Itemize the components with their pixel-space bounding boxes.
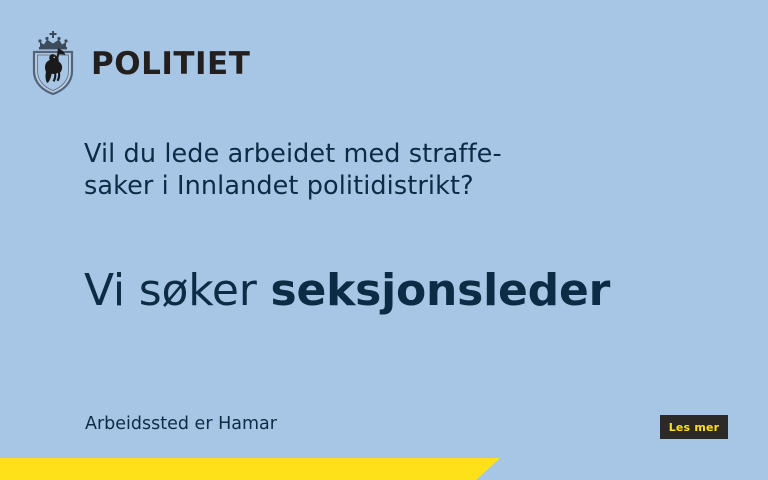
recruitment-banner: POLITIET Vil du lede arbeidet med straff… [0,0,768,480]
workplace-location: Arbeidssted er Hamar [85,413,277,435]
les-mer-button[interactable]: Les mer [660,415,728,439]
politiet-wordmark: POLITIET [91,49,250,80]
headline-strong-part: seksjonsleder [270,265,610,316]
norwegian-coat-of-arms-icon [27,31,79,95]
headline: Vi søker seksjonsleder [84,265,610,317]
les-mer-button-label: Les mer [669,422,720,433]
yellow-accent-stripe [0,458,500,480]
headline-light-part: Vi søker [84,265,270,316]
kicker-text: Vil du lede arbeidet med straffe- saker … [84,138,644,202]
kicker-line-1: Vil du lede arbeidet med straffe- [84,138,644,170]
kicker-line-2: saker i Innlandet politidistrikt? [84,170,644,202]
politiet-logo: POLITIET [27,31,250,95]
